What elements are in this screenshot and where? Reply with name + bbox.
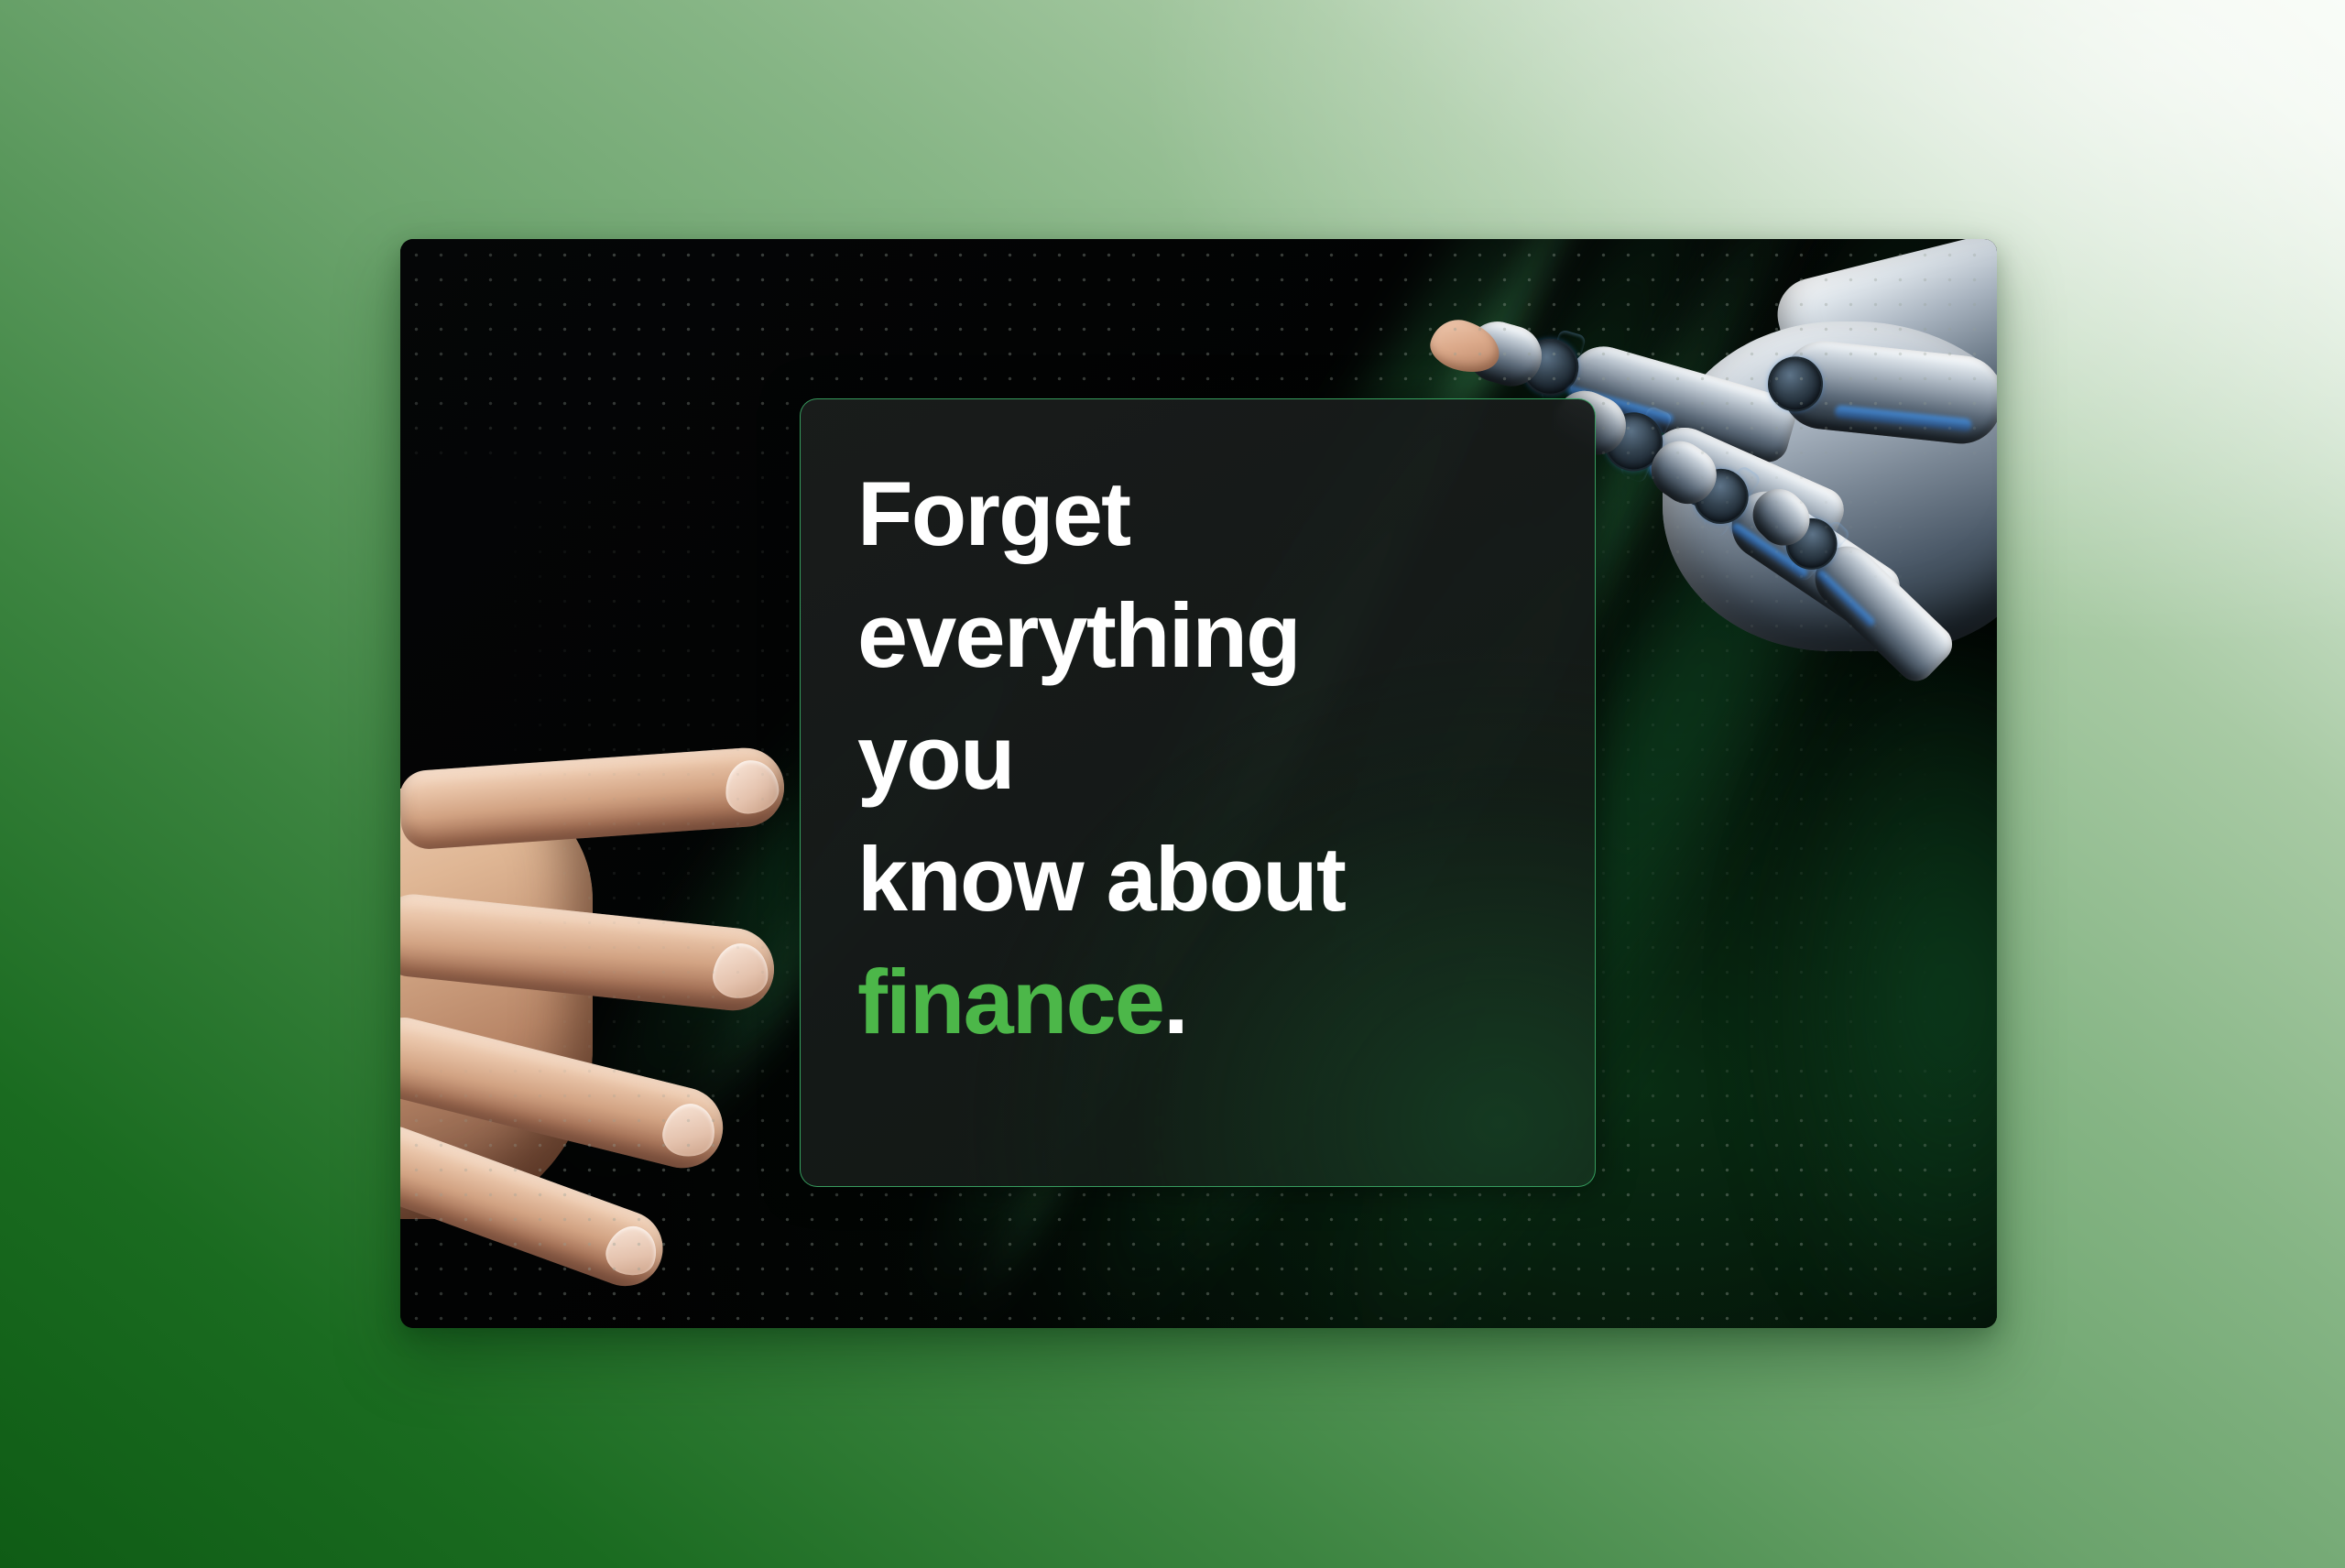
headline-line-1: Forget xyxy=(857,452,1558,574)
headline-period: . xyxy=(1163,951,1187,1052)
headline-line-3: you xyxy=(857,696,1558,818)
headline-card: Forget everything you know about finance… xyxy=(800,398,1596,1187)
headline-line-5: finance. xyxy=(857,941,1558,1062)
headline-line-2: everything xyxy=(857,574,1558,696)
presentation-slide[interactable]: Forget everything you know about finance… xyxy=(400,239,1997,1328)
headline-accent-word: finance xyxy=(857,951,1163,1052)
headline-line-4: know about xyxy=(857,818,1558,940)
page-title: Forget everything you know about finance… xyxy=(857,452,1558,1062)
